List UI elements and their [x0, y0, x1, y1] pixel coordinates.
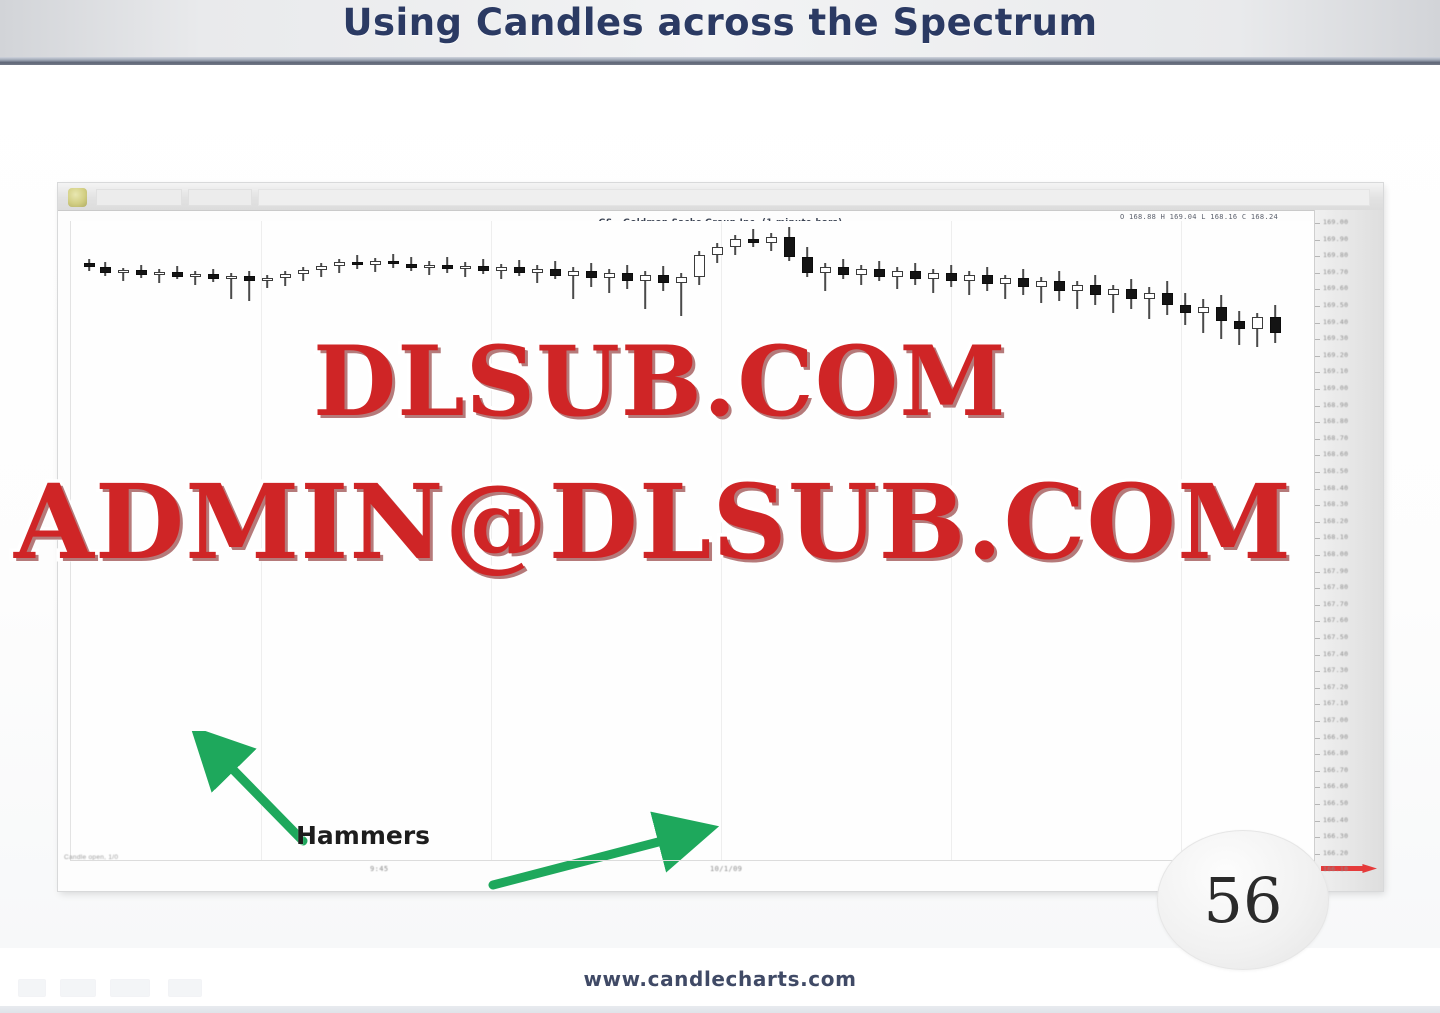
- candle-body-up: [1252, 317, 1263, 329]
- price-axis-tick: 166.40: [1315, 816, 1383, 826]
- price-tick-label: 168.60: [1323, 450, 1348, 458]
- price-axis-tick: 166.70: [1315, 766, 1383, 776]
- page-number-badge: 56: [1157, 830, 1329, 970]
- candle-body-up: [568, 271, 579, 276]
- price-axis-tick: 166.30: [1315, 832, 1383, 842]
- candle-body-down: [874, 269, 885, 277]
- price-tick-label: 167.20: [1323, 683, 1348, 691]
- candle-body-up: [262, 278, 273, 281]
- bottom-toolbar[interactable]: [18, 971, 268, 1005]
- price-axis-tick: 168.10: [1315, 533, 1383, 543]
- candle-body-down: [982, 275, 993, 284]
- price-tick-mark: [1315, 472, 1320, 473]
- price-tick-label: 168.90: [1323, 401, 1348, 409]
- price-axis-tick: 167.90: [1315, 567, 1383, 577]
- price-tick-label: 167.60: [1323, 616, 1348, 624]
- candle-body-down: [802, 257, 813, 273]
- price-tick-mark: [1315, 289, 1320, 290]
- toolbar-icon-grid[interactable]: [110, 979, 150, 997]
- price-tick-mark: [1315, 837, 1320, 838]
- candle-body-down: [658, 275, 669, 283]
- price-tick-mark: [1315, 306, 1320, 307]
- price-axis-tick: 168.40: [1315, 484, 1383, 494]
- price-axis-tick: 168.90: [1315, 401, 1383, 411]
- price-axis-tick: 169.50: [1315, 301, 1383, 311]
- price-axis-tick: 168.50: [1315, 467, 1383, 477]
- price-axis-tick: 167.60: [1315, 616, 1383, 626]
- price-axis-tick: 168.70: [1315, 434, 1383, 444]
- price-axis-tick: 166.10: [1315, 865, 1383, 875]
- title-divider: [0, 57, 1440, 65]
- price-tick-mark: [1315, 505, 1320, 506]
- candle-body-down: [784, 237, 795, 257]
- candle-body-down: [442, 265, 453, 269]
- candle-body-down: [910, 271, 921, 279]
- price-axis-tick: 167.70: [1315, 600, 1383, 610]
- price-tick-label: 166.40: [1323, 816, 1348, 824]
- price-tick-mark: [1315, 638, 1320, 639]
- candle-body-down: [1216, 307, 1227, 321]
- time-tick-label: 10/1/09: [710, 865, 742, 873]
- candle-body-up: [496, 267, 507, 271]
- price-tick-label: 167.40: [1323, 650, 1348, 658]
- candle-body-down: [622, 273, 633, 281]
- price-tick-mark: [1315, 655, 1320, 656]
- candle-body-down: [1234, 321, 1245, 329]
- price-axis-tick: 169.10: [1315, 367, 1383, 377]
- price-tick-label: 166.20: [1323, 849, 1348, 857]
- price-tick-label: 169.20: [1323, 351, 1348, 359]
- candle-body-up: [280, 274, 291, 278]
- price-tick-mark: [1315, 688, 1320, 689]
- candle-body-down: [748, 239, 759, 243]
- candle-body-up: [892, 271, 903, 277]
- candle-body-up: [730, 239, 741, 247]
- candle-body-down: [406, 264, 417, 268]
- price-axis-tick: 169.30: [1315, 334, 1383, 344]
- candle-body-down: [1126, 289, 1137, 299]
- price-tick-mark: [1315, 372, 1320, 373]
- candle-body-up: [1198, 307, 1209, 313]
- price-tick-mark: [1315, 439, 1320, 440]
- toolbar-segment-mid[interactable]: [188, 189, 252, 206]
- candle-body-up: [190, 274, 201, 277]
- candle-body-down: [244, 276, 255, 281]
- toolbar-icon-pointer[interactable]: [18, 979, 46, 997]
- candle-body-down: [100, 267, 111, 273]
- price-tick-mark: [1315, 721, 1320, 722]
- price-tick-mark: [1315, 256, 1320, 257]
- candle-body-up: [118, 270, 129, 273]
- price-axis-tick: 169.60: [1315, 284, 1383, 294]
- page-title: Using Candles across the Spectrum: [0, 0, 1440, 51]
- candle-body-up: [928, 273, 939, 279]
- price-tick-label: 167.00: [1323, 716, 1348, 724]
- price-tick-mark: [1315, 406, 1320, 407]
- candle-body-down: [514, 267, 525, 273]
- price-tick-mark: [1315, 489, 1320, 490]
- price-tick-label: 169.90: [1323, 235, 1348, 243]
- candle-body-up: [1036, 281, 1047, 287]
- candle-app-logo-icon: [68, 188, 87, 207]
- price-axis-tick: 166.80: [1315, 749, 1383, 759]
- candle-body-up: [424, 265, 435, 268]
- price-tick-mark: [1315, 821, 1320, 822]
- page-number: 56: [1204, 864, 1283, 937]
- time-axis: 9:4510/1/09: [70, 860, 1315, 883]
- price-tick-mark: [1315, 854, 1320, 855]
- hammers-annotation-label: Hammers: [296, 821, 430, 850]
- price-axis-tick: 166.50: [1315, 799, 1383, 809]
- candle-body-down: [1054, 281, 1065, 291]
- candle-body-up: [460, 266, 471, 269]
- price-axis-tick: 168.20: [1315, 517, 1383, 527]
- watermark-email: ADMIN@DLSUB.COM: [14, 462, 1292, 583]
- price-tick-mark: [1315, 339, 1320, 340]
- price-axis-tick: 167.50: [1315, 633, 1383, 643]
- candle-body-down: [388, 261, 399, 264]
- candle-body-up: [712, 247, 723, 255]
- price-axis-tick: 166.90: [1315, 733, 1383, 743]
- price-tick-mark: [1315, 804, 1320, 805]
- candle-body-up: [1000, 278, 1011, 284]
- price-axis-tick: 168.00: [1315, 550, 1383, 560]
- price-tick-label: 168.00: [1323, 550, 1348, 558]
- price-tick-label: 168.10: [1323, 533, 1348, 541]
- price-axis-tick: 169.00: [1315, 384, 1383, 394]
- price-tick-label: 168.30: [1323, 500, 1348, 508]
- candle-wick: [464, 262, 466, 277]
- price-tick-mark: [1315, 704, 1320, 705]
- toolbar-segment-right[interactable]: [258, 189, 1370, 206]
- toolbar-icon-shape[interactable]: [168, 979, 202, 997]
- candle-body-down: [946, 273, 957, 281]
- price-tick-mark: [1315, 621, 1320, 622]
- price-axis-tick: 167.30: [1315, 666, 1383, 676]
- price-tick-label: 169.60: [1323, 284, 1348, 292]
- candle-body-up: [604, 273, 615, 278]
- candle-body-down: [136, 270, 147, 275]
- candle-wick: [536, 265, 538, 283]
- price-axis-tick: 169.40: [1315, 318, 1383, 328]
- price-tick-mark: [1315, 588, 1320, 589]
- price-tick-label: 169.00: [1323, 384, 1348, 392]
- price-tick-label: 166.60: [1323, 782, 1348, 790]
- quote-ohlc-line: O 168.88 H 169.04 L 168.16 C 168.24: [1120, 213, 1278, 221]
- candle-body-down: [1018, 278, 1029, 287]
- price-tick-mark: [1315, 738, 1320, 739]
- bottom-divider: [0, 1006, 1440, 1013]
- price-tick-label: 166.10: [1323, 865, 1348, 873]
- candle-body-down: [838, 267, 849, 275]
- price-tick-label: 169.30: [1323, 334, 1348, 342]
- candle-body-down: [1180, 305, 1191, 313]
- candle-body-down: [1090, 285, 1101, 295]
- price-tick-label: 168.40: [1323, 484, 1348, 492]
- candle-body-up: [694, 255, 705, 277]
- price-axis[interactable]: 169.00169.90169.80169.70169.60169.50169.…: [1314, 210, 1383, 891]
- candle-body-up: [1108, 289, 1119, 295]
- price-tick-label: 169.70: [1323, 268, 1348, 276]
- price-tick-mark: [1315, 522, 1320, 523]
- price-tick-mark: [1315, 572, 1320, 573]
- candle-body-up: [298, 270, 309, 274]
- candle-body-down: [1162, 293, 1173, 305]
- price-axis-tick: 168.80: [1315, 417, 1383, 427]
- candle-body-up: [1072, 285, 1083, 291]
- price-tick-label: 169.40: [1323, 318, 1348, 326]
- price-tick-label: 166.90: [1323, 733, 1348, 741]
- candle-body-down: [352, 262, 363, 265]
- toolbar-segment-left[interactable]: [96, 189, 182, 206]
- price-tick-mark: [1315, 223, 1320, 224]
- candle-body-up: [334, 262, 345, 266]
- price-tick-label: 168.20: [1323, 517, 1348, 525]
- price-tick-label: 166.30: [1323, 832, 1348, 840]
- price-axis-tick: 169.00: [1315, 218, 1383, 228]
- price-tick-mark: [1315, 240, 1320, 241]
- candle-wick: [266, 275, 268, 288]
- candle-body-up: [856, 269, 867, 275]
- price-tick-label: 167.70: [1323, 600, 1348, 608]
- candle-body-down: [1270, 317, 1281, 333]
- price-axis-tick: 166.60: [1315, 782, 1383, 792]
- price-tick-mark: [1315, 555, 1320, 556]
- price-tick-label: 167.50: [1323, 633, 1348, 641]
- price-axis-tick: 166.20: [1315, 849, 1383, 859]
- price-tick-label: 169.00: [1323, 218, 1348, 226]
- price-tick-mark: [1315, 671, 1320, 672]
- price-axis-tick: 167.40: [1315, 650, 1383, 660]
- price-axis-tick: 168.60: [1315, 450, 1383, 460]
- price-tick-label: 167.80: [1323, 583, 1348, 591]
- price-tick-label: 169.10: [1323, 367, 1348, 375]
- candle-body-up: [766, 237, 777, 243]
- candle-body-down: [84, 263, 95, 267]
- price-axis-tick: 168.30: [1315, 500, 1383, 510]
- candle-wick: [752, 229, 754, 247]
- price-tick-mark: [1315, 605, 1320, 606]
- candle-wick: [1148, 287, 1150, 319]
- price-axis-tick: 169.70: [1315, 268, 1383, 278]
- price-tick-mark: [1315, 356, 1320, 357]
- price-tick-mark: [1315, 455, 1320, 456]
- candle-body-up: [820, 267, 831, 273]
- price-axis-tick: 167.80: [1315, 583, 1383, 593]
- price-tick-mark: [1315, 787, 1320, 788]
- candle-body-up: [316, 266, 327, 270]
- candle-wick: [860, 265, 862, 285]
- price-tick-label: 168.70: [1323, 434, 1348, 442]
- candle-body-up: [676, 277, 687, 283]
- price-tick-label: 167.90: [1323, 567, 1348, 575]
- price-tick-label: 169.80: [1323, 251, 1348, 259]
- candle-wick: [428, 261, 430, 275]
- price-tick-mark: [1315, 754, 1320, 755]
- candle-body-up: [370, 261, 381, 265]
- price-tick-mark: [1315, 323, 1320, 324]
- price-tick-mark: [1315, 273, 1320, 274]
- slide-title-band: Using Candles across the Spectrum: [0, 0, 1440, 57]
- price-tick-label: 168.50: [1323, 467, 1348, 475]
- candle-body-down: [172, 272, 183, 277]
- price-axis-tick: 167.10: [1315, 699, 1383, 709]
- price-tick-mark: [1315, 771, 1320, 772]
- candle-body-up: [640, 275, 651, 281]
- time-tick-label: 9:45: [370, 865, 388, 873]
- candle-body-up: [226, 276, 237, 279]
- candle-body-up: [1144, 293, 1155, 299]
- candle-body-up: [964, 275, 975, 281]
- candle-body-down: [550, 269, 561, 276]
- chart-window-titlebar: [58, 183, 1383, 211]
- candle-body-down: [586, 271, 597, 278]
- price-tick-mark: [1315, 422, 1320, 423]
- price-axis-tick: 167.20: [1315, 683, 1383, 693]
- price-tick-mark: [1315, 538, 1320, 539]
- hammer-arrow-right: [481, 811, 721, 901]
- toolbar-icon-line[interactable]: [60, 979, 96, 997]
- price-tick-label: 167.10: [1323, 699, 1348, 707]
- price-axis-tick: 169.90: [1315, 235, 1383, 245]
- price-tick-label: 168.80: [1323, 417, 1348, 425]
- price-tick-label: 169.50: [1323, 301, 1348, 309]
- candle-body-up: [532, 269, 543, 273]
- candle-body-down: [478, 266, 489, 271]
- price-tick-label: 166.70: [1323, 766, 1348, 774]
- candle-wick: [1202, 299, 1204, 333]
- candle-body-down: [208, 274, 219, 279]
- watermark-site: DLSUB.COM: [313, 325, 1007, 438]
- price-tick-label: 166.80: [1323, 749, 1348, 757]
- price-tick-label: 166.50: [1323, 799, 1348, 807]
- price-tick-label: 167.30: [1323, 666, 1348, 674]
- price-axis-tick: 169.80: [1315, 251, 1383, 261]
- price-axis-tick: 169.20: [1315, 351, 1383, 361]
- candle-body-up: [154, 272, 165, 275]
- price-tick-mark: [1315, 389, 1320, 390]
- price-axis-tick: 167.00: [1315, 716, 1383, 726]
